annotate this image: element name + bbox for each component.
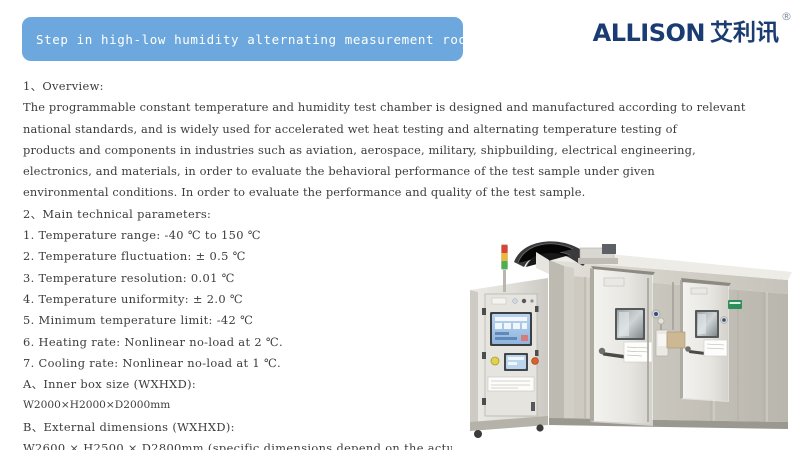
overview-line: The programmable constant temperature an… — [23, 97, 723, 118]
page-title: Step in high-low humidity alternating me… — [36, 32, 475, 47]
chamber-door-left — [590, 266, 660, 426]
chamber-door-right — [680, 278, 731, 402]
overview-line: electronics, and materials, in order to … — [23, 161, 723, 182]
brand-logo: ALLISON 艾利讯 ® — [593, 20, 792, 50]
brand-name-cjk: 艾利讯 — [710, 20, 779, 46]
overview-line: environmental conditions. In order to ev… — [23, 182, 723, 203]
test-chamber-illustration — [452, 222, 800, 450]
page-root: Step in high-low humidity alternating me… — [0, 0, 800, 450]
page-title-banner: Step in high-low humidity alternating me… — [22, 17, 463, 61]
overview-line: products and components in industries su… — [23, 140, 723, 161]
product-photo — [452, 222, 800, 450]
overview-heading: 1、Overview: — [23, 76, 723, 97]
brand-name-latin: ALLISON — [593, 20, 705, 46]
page-header: Step in high-low humidity alternating me… — [0, 0, 800, 72]
registered-trademark-icon: ® — [781, 11, 792, 22]
overview-line: national standards, and is widely used f… — [23, 119, 723, 140]
